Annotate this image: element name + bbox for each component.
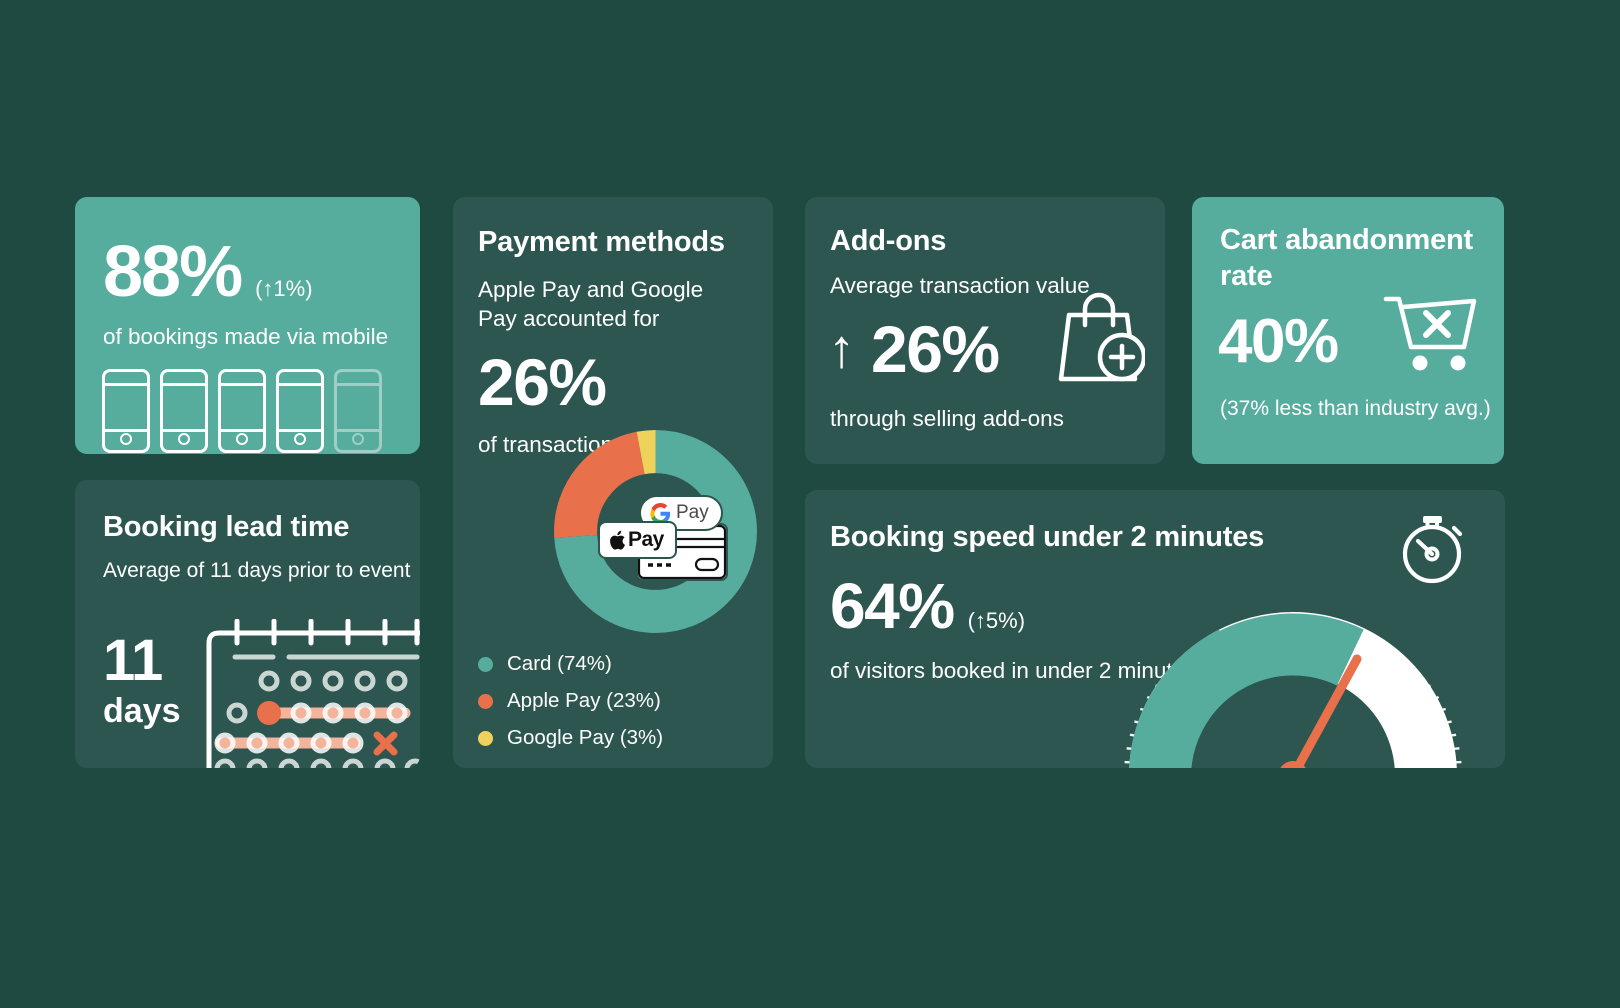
calendar-x-marker [377, 735, 394, 752]
card-addons: Add-ons Average transaction value ↑ 26% … [805, 197, 1165, 464]
card-cart-abandonment: Cart abandonment rate 40% (37% less than… [1192, 197, 1504, 464]
legend-item-apple-pay: Apple Pay (23%) [478, 689, 663, 713]
apple-pay-label: Pay [628, 528, 664, 552]
payment-subtitle: Apple Pay and Google Pay accounted for [453, 261, 773, 334]
mobile-value-row: 88% (↑1%) [75, 197, 420, 308]
apple-logo-icon [609, 530, 626, 551]
legend-label-google-pay: Google Pay (3%) [507, 726, 663, 750]
stopwatch-icon [1398, 508, 1470, 588]
legend-swatch-google-pay [478, 731, 493, 746]
apple-pay-badge: Pay [598, 521, 677, 559]
speed-delta: (↑5%) [968, 608, 1025, 634]
phone-pictogram [75, 351, 420, 453]
lead-time-value-block: 11 days [103, 632, 181, 733]
payment-title: Payment methods [453, 197, 773, 261]
cart-title: Cart abandonment rate [1192, 197, 1504, 295]
cart-caption: (37% less than industry avg.) [1192, 373, 1504, 422]
gauge-value-arc-fill [1160, 645, 1350, 768]
google-pay-label: Pay [676, 502, 709, 524]
lead-time-subtitle: Average of 11 days prior to event [75, 546, 420, 584]
phone-icon-partial [334, 369, 382, 453]
cart-percentage: 40% [1218, 311, 1338, 373]
shopping-bag-plus-icon [1055, 287, 1145, 387]
addons-caption: through selling add-ons [805, 382, 1165, 433]
speed-percentage: 64% [830, 574, 954, 638]
card-payment-methods: Payment methods Apple Pay and Google Pay… [453, 197, 773, 768]
legend-item-card: Card (74%) [478, 652, 663, 676]
lead-time-days-unit: days [103, 690, 181, 733]
mobile-delta: (↑1%) [255, 276, 312, 302]
infographic-board: 88% (↑1%) of bookings made via mobile Bo… [0, 0, 1620, 1008]
cart-remove-icon [1382, 293, 1482, 375]
mobile-caption: of bookings made via mobile [75, 308, 420, 351]
mobile-percentage: 88% [103, 236, 241, 308]
phone-icon [102, 369, 150, 453]
legend-swatch-card [478, 657, 493, 672]
card-booking-lead-time: Booking lead time Average of 11 days pri… [75, 480, 420, 768]
lead-time-days-number: 11 [103, 632, 181, 690]
legend-label-apple-pay: Apple Pay (23%) [507, 689, 661, 713]
legend-label-card: Card (74%) [507, 652, 612, 676]
arrow-up-icon: ↑ [828, 322, 855, 376]
phone-icon [276, 369, 324, 453]
phone-icon [218, 369, 266, 453]
booking-speed-gauge [1105, 576, 1495, 768]
legend-item-google-pay: Google Pay (3%) [478, 726, 663, 750]
addons-percentage: 26% [871, 316, 999, 382]
card-booking-speed: Booking speed under 2 minutes 64% (↑5%) … [805, 490, 1505, 768]
addons-title: Add-ons [805, 197, 1165, 260]
payment-legend: Card (74%) Apple Pay (23%) Google Pay (3… [478, 652, 663, 763]
legend-swatch-apple-pay [478, 694, 493, 709]
card-mobile-bookings: 88% (↑1%) of bookings made via mobile [75, 197, 420, 454]
calendar-icon [205, 619, 420, 768]
phone-icon [160, 369, 208, 453]
payment-badges: Pay Pay [614, 497, 744, 577]
payment-percentage: 26% [453, 333, 773, 415]
lead-time-title: Booking lead time [75, 480, 420, 546]
